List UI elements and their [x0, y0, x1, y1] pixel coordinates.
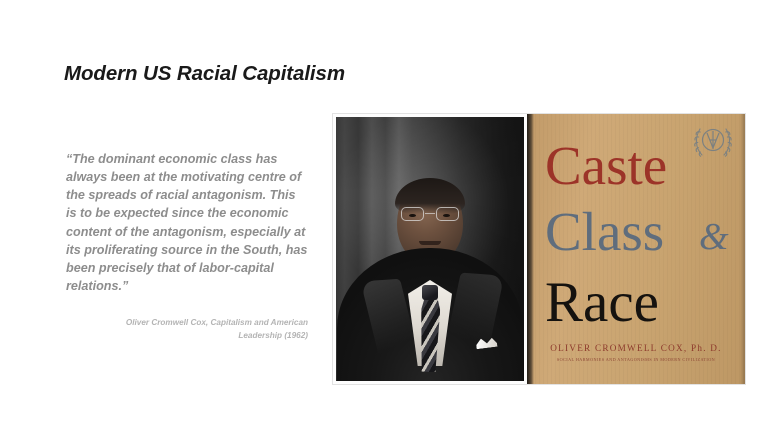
book-title-word-class: Class	[545, 204, 664, 259]
portrait-eye-right	[443, 214, 450, 217]
portrait-tie-knot	[422, 285, 438, 300]
portrait-mouth	[419, 241, 441, 245]
portrait-photo	[333, 114, 527, 384]
publisher-laurel-wreath-icon	[690, 120, 736, 164]
portrait-eye-left	[409, 214, 416, 217]
quote-text: “The dominant economic class has always …	[66, 150, 308, 295]
page-title: Modern US Racial Capitalism	[64, 62, 345, 86]
quote-block: “The dominant economic class has always …	[66, 150, 308, 343]
book-title-word-caste: Caste	[545, 138, 667, 193]
media-group: Caste Class & Race OLIVER CROMWELL COX, …	[333, 114, 745, 384]
book-title-word-race: Race	[545, 274, 659, 331]
book-title-ampersand: &	[699, 218, 729, 256]
book-author-line: OLIVER CROMWELL COX, Ph. D.	[527, 343, 745, 353]
book-subtitle-line: SOCIAL HARMONIES AND ANTAGONISMS IN MODE…	[527, 357, 745, 362]
book-cover: Caste Class & Race OLIVER CROMWELL COX, …	[527, 114, 745, 384]
quote-attribution: Oliver Cromwell Cox, Capitalism and Amer…	[66, 316, 308, 343]
